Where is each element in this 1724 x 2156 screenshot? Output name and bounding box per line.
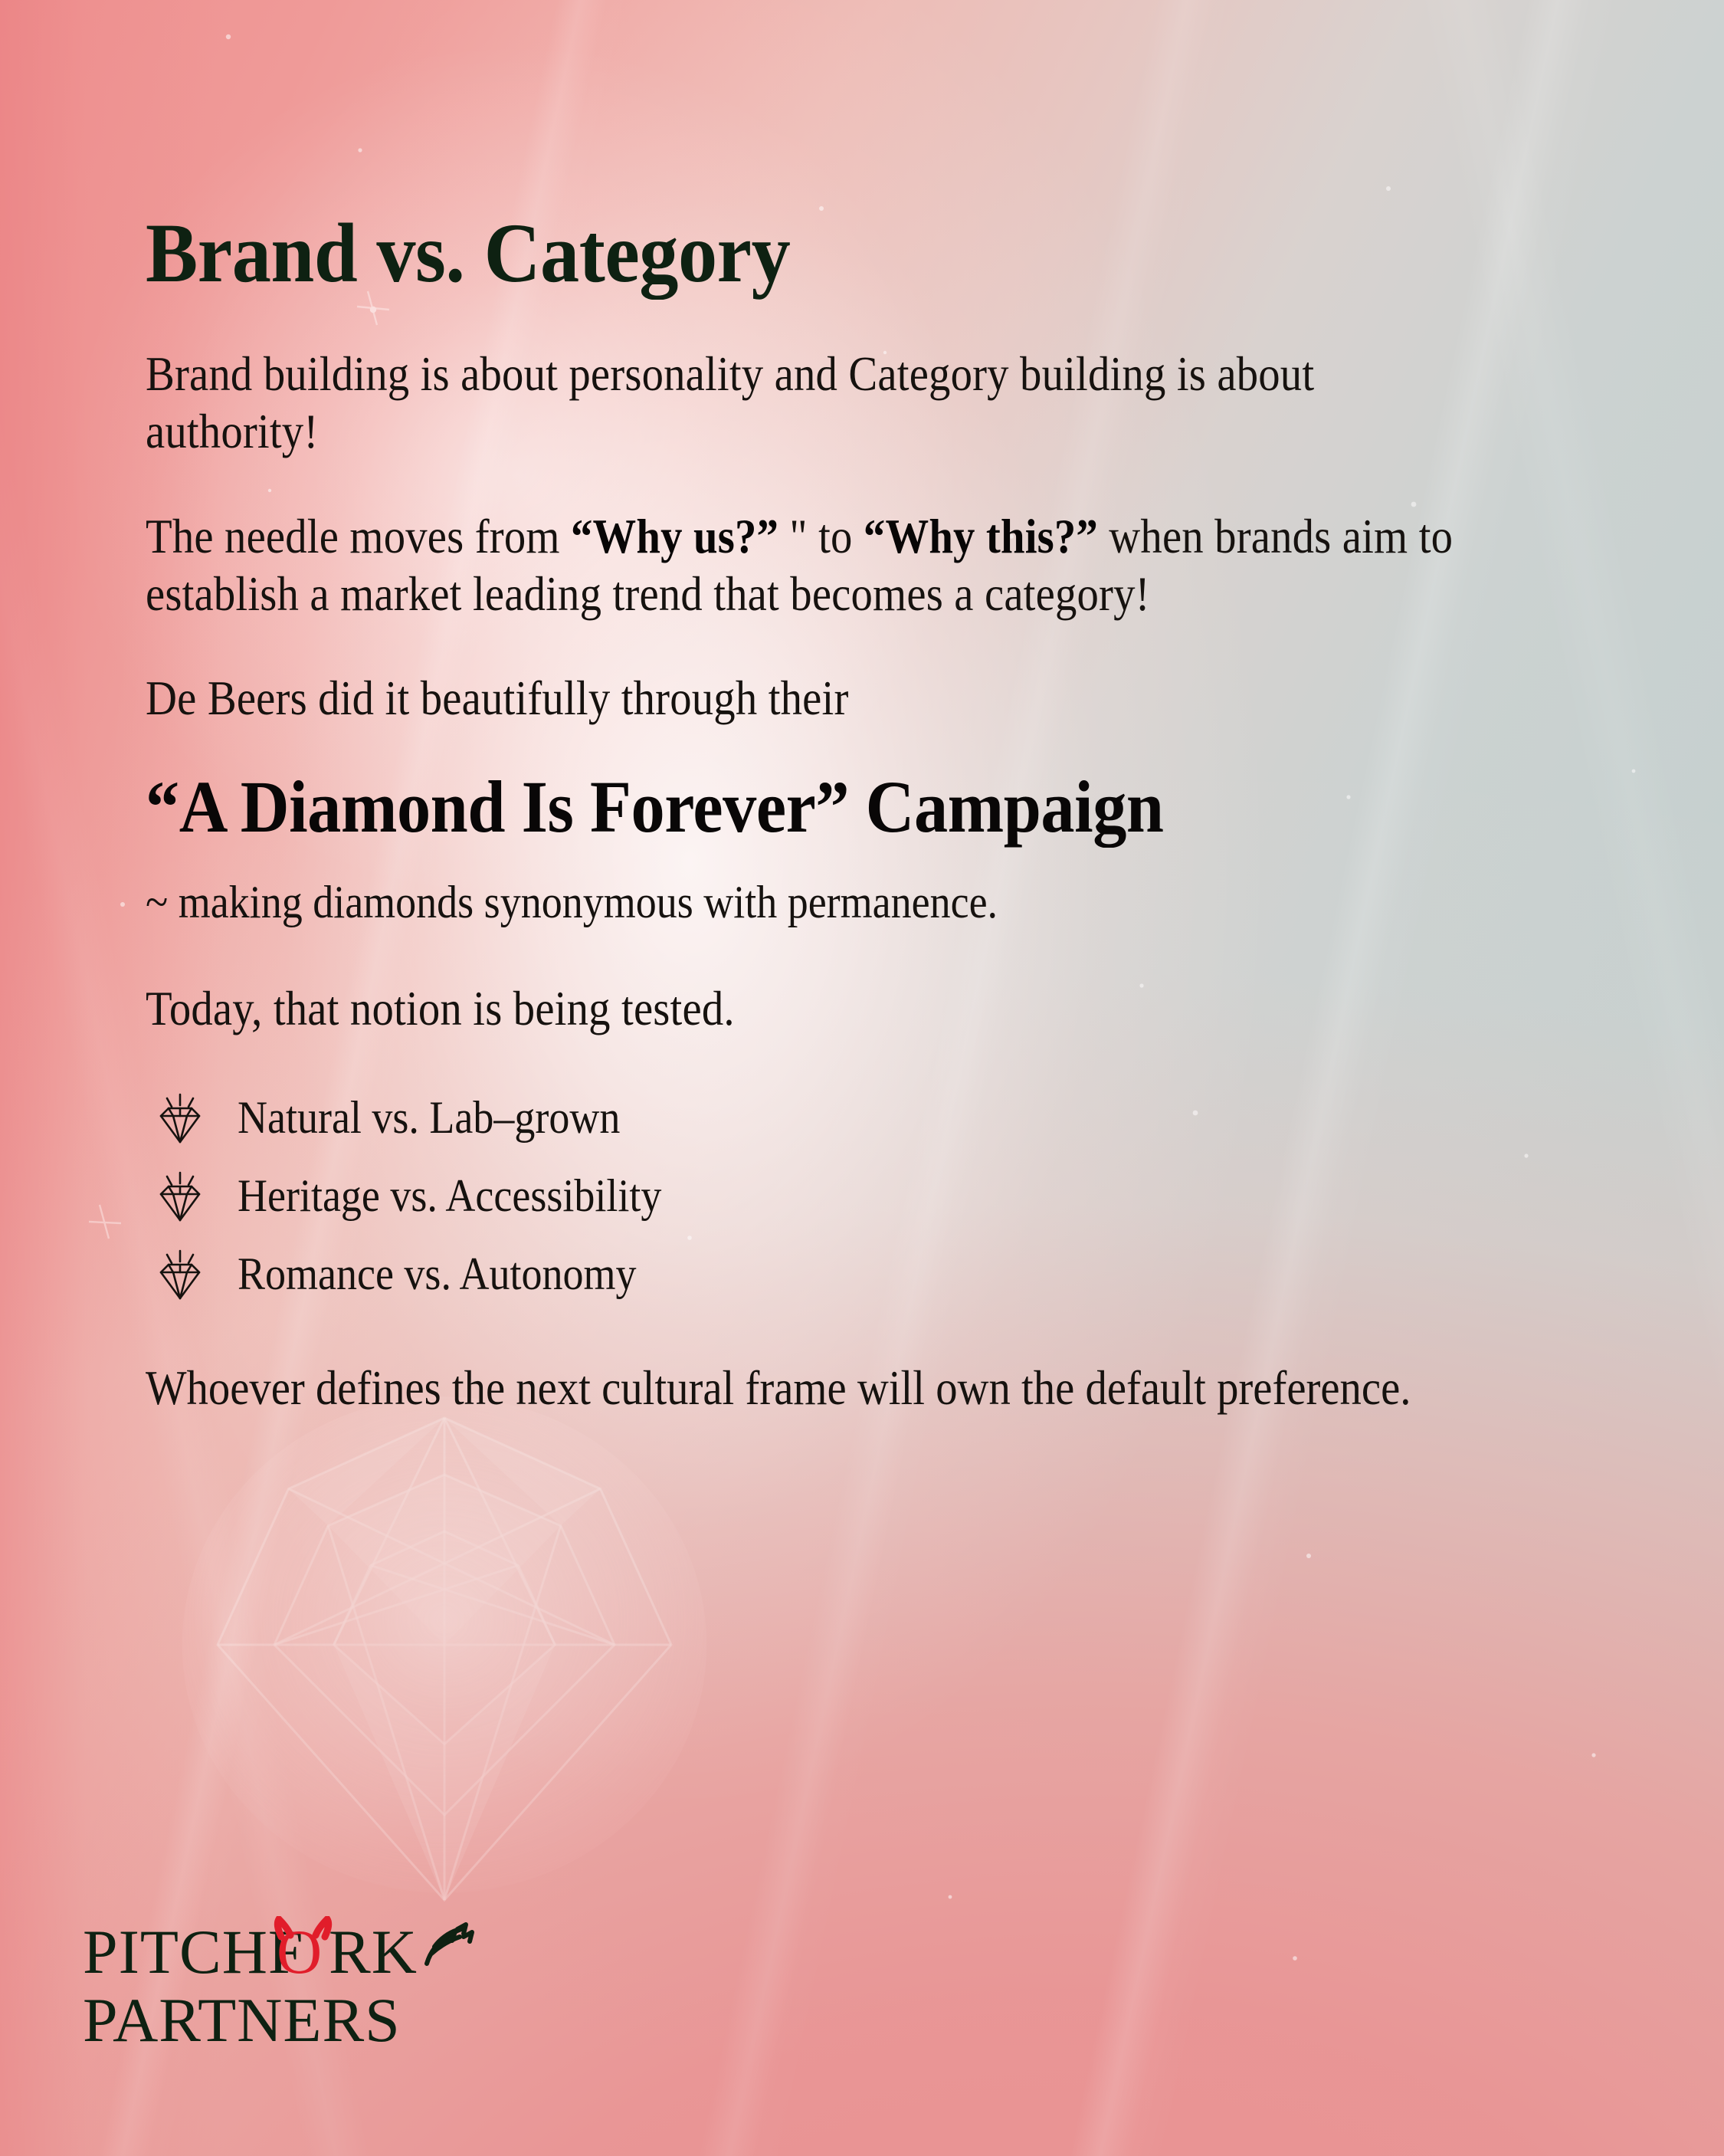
diamond-icon bbox=[156, 1090, 204, 1145]
paragraph-brand-building-text: Brand building is about personality and … bbox=[146, 347, 1314, 458]
quote-why-us: “Why us?” bbox=[571, 510, 778, 563]
logo-line1-part2: RK bbox=[329, 1917, 418, 1987]
paragraph-today: Today, that notion is being tested. bbox=[146, 980, 1456, 1038]
needle-mid-text: " to bbox=[778, 510, 864, 563]
list-item: Natural vs. Lab–grown bbox=[156, 1085, 1601, 1150]
list-item-label: Romance vs. Autonomy bbox=[238, 1251, 636, 1297]
paragraph-brand-building: Brand building is about personality and … bbox=[146, 346, 1456, 461]
poster-canvas: Brand vs. Category Brand building is abo… bbox=[0, 0, 1724, 2156]
brand-logo: PITCHF O RK PARTNERS bbox=[83, 1916, 512, 2058]
list-item: Romance vs. Autonomy bbox=[156, 1242, 1601, 1306]
campaign-headline: “A Diamond Is Forever” Campaign bbox=[146, 767, 1485, 847]
poster-content: Brand vs. Category Brand building is abo… bbox=[146, 208, 1601, 1418]
tension-list: Natural vs. Lab–grown Heritage vs. Acces… bbox=[146, 1085, 1601, 1306]
list-item-label: Natural vs. Lab–grown bbox=[238, 1094, 620, 1140]
paragraph-de-beers: De Beers did it beautifully through thei… bbox=[146, 670, 1456, 727]
needle-pre-text: The needle moves from bbox=[146, 510, 571, 563]
logo-line2: PARTNERS bbox=[83, 1985, 401, 2055]
quote-why-this: “Why this?” bbox=[864, 510, 1098, 563]
list-item: Heritage vs. Accessibility bbox=[156, 1163, 1601, 1228]
paragraph-needle-moves: The needle moves from “Why us?” " to “Wh… bbox=[146, 508, 1456, 623]
page-title: Brand vs. Category bbox=[146, 208, 1499, 298]
diamond-icon bbox=[156, 1168, 204, 1223]
closing-statement: Whoever defines the next cultural frame … bbox=[146, 1360, 1456, 1418]
paragraph-de-beers-text: De Beers did it beautifully through thei… bbox=[146, 671, 849, 725]
gem-watermark-icon bbox=[153, 1390, 736, 1957]
diamond-icon bbox=[156, 1246, 204, 1301]
campaign-subline: ~ making diamonds synonymous with perman… bbox=[146, 875, 1456, 930]
trident-icon bbox=[427, 1925, 472, 1964]
logo-line1-part1: PITCHF bbox=[83, 1917, 304, 1987]
list-item-label: Heritage vs. Accessibility bbox=[238, 1173, 661, 1219]
pitchfork-partners-logo-icon: PITCHF O RK PARTNERS bbox=[83, 1916, 512, 2058]
